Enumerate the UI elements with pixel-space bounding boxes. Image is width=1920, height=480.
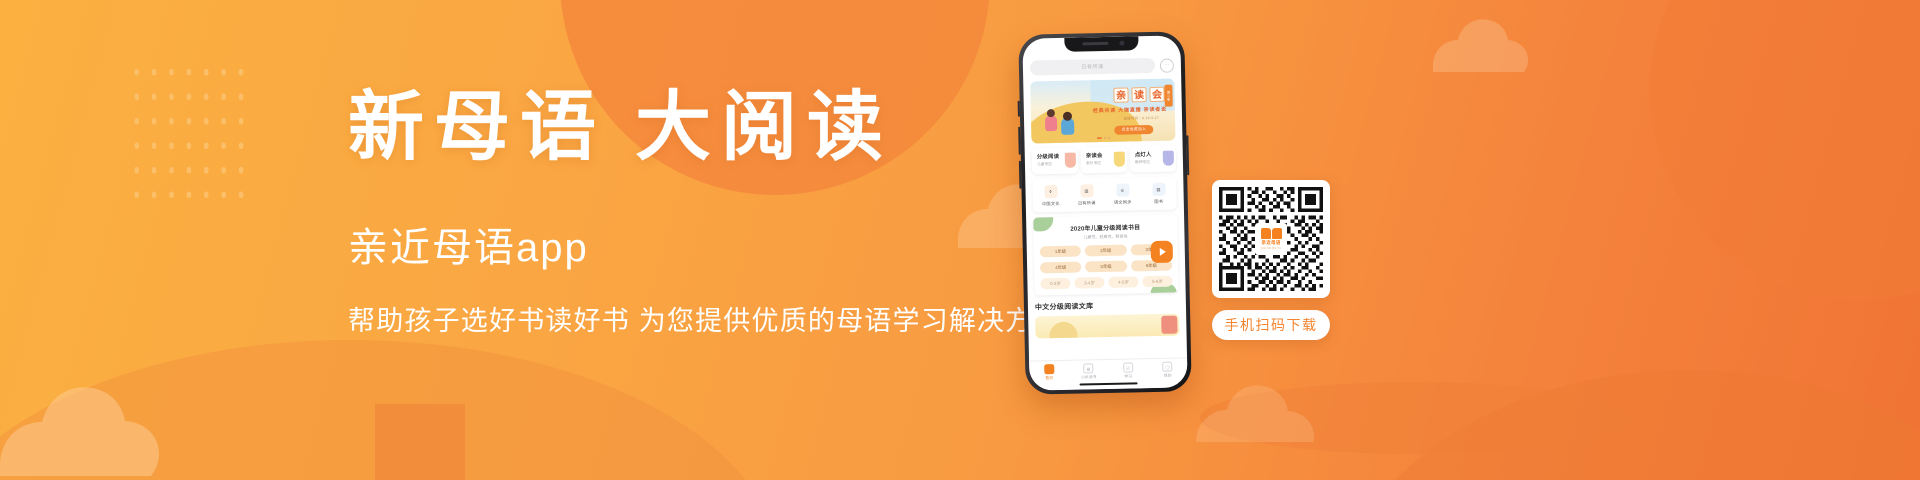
sync-lesson-icon: ◎ (1116, 183, 1129, 196)
cloud-icon (0, 376, 210, 480)
hero-child-illustration (1045, 115, 1057, 131)
cloud-icon (1190, 378, 1360, 458)
category-card-parent-club[interactable]: 亲读会 家长专区 (1081, 147, 1128, 174)
hero-subtitle: 经典共读 大咖直播 亲读者说 (1093, 106, 1167, 115)
app-screen: 日有所诵 ··· 亲 读 会 (1022, 35, 1187, 390)
age-chip[interactable]: 5-6岁 (1142, 276, 1172, 288)
grade-chip[interactable]: 4年级 (1040, 262, 1082, 274)
quick-icon-label: 语文同步 (1114, 199, 1132, 205)
books-icon: ▤ (1152, 183, 1165, 196)
cloud-icon (1428, 12, 1548, 82)
booklist-card: 2020年儿童分级阅读书目 儿童性、经典性、教育性 1年级 2年级 3年级 4年… (1033, 214, 1179, 295)
decorative-circle-right (1650, 0, 1920, 300)
qr-code[interactable]: 亲近母语 QIN JIN MU YU (1212, 180, 1330, 298)
decorative-block (375, 404, 465, 480)
search-placeholder: 日有所诵 (1081, 63, 1103, 70)
person-icon (1163, 151, 1174, 166)
checklist-icon: ☑ (1123, 362, 1133, 372)
bottom-tab-bar: ⌂ 首页 ▤ 小步读书 ☑ 学习 ◯ 我的 (1029, 357, 1188, 390)
bookmark-icon (1114, 152, 1125, 167)
phone-volume-down (1019, 161, 1022, 189)
phone-screen: 日有所诵 ··· 亲 读 会 (1022, 35, 1187, 390)
quick-icon-books[interactable]: ▤ 图书 (1140, 182, 1176, 205)
age-chip[interactable]: 3-4岁 (1074, 277, 1104, 289)
tab-label: 学习 (1124, 374, 1132, 379)
booklist-title: 2020年儿童分级阅读书目 (1039, 222, 1171, 234)
qr-center-logo: 亲近母语 QIN JIN MU YU (1255, 223, 1287, 255)
phone-volume-up (1018, 127, 1021, 155)
bookmark-icon (1065, 153, 1076, 168)
category-card-graded-reading[interactable]: 分级阅读 儿童专区 (1032, 148, 1079, 175)
category-card-teacher[interactable]: 点灯人 教师专区 (1130, 146, 1177, 173)
hero-child-illustration (1061, 118, 1074, 135)
quick-icon-sync-lesson[interactable]: ◎ 语文同步 (1104, 183, 1140, 206)
video-play-button[interactable] (1151, 241, 1173, 263)
tab-label: 首页 (1045, 376, 1053, 381)
age-chip[interactable]: 4-5岁 (1108, 276, 1138, 288)
decorative-dot-grid (128, 60, 250, 208)
booklist-subtitle: 儿童性、经典性、教育性 (1039, 233, 1171, 242)
phone-mockup: 日有所诵 ··· 亲 读 会 (1018, 31, 1192, 394)
hero-banner[interactable]: 亲 读 会 第二季 经典共读 大咖直播 亲读者说 直播时间：9.16-9.27 … (1030, 79, 1175, 144)
hero-title: 亲 读 会 (1113, 87, 1164, 103)
banner-copy: 新母语 大阅读 亲近母语app 帮助孩子选好书读好书 为您提供优质的母语学习解决… (348, 86, 1048, 338)
grade-chip[interactable]: 5年级 (1085, 261, 1127, 273)
quick-icon-chinese-culture[interactable]: ⚱ 中国文化 (1032, 185, 1068, 208)
chat-icon[interactable]: ··· (1160, 58, 1174, 72)
book-icon: ▤ (1083, 363, 1093, 373)
phone-power-button (1186, 135, 1189, 175)
hero-ribbon: 第二季 (1164, 85, 1172, 107)
logo-pinyin: QIN JIN MU YU (1261, 247, 1282, 250)
library-illustration (1049, 322, 1077, 339)
quick-icon-row: ⚱ 中国文化 ▥ 日有所诵 ◎ 语文同步 ▤ 图书 (1032, 176, 1177, 212)
tab-home[interactable]: ⌂ 首页 (1029, 364, 1069, 382)
tagline: 帮助孩子选好书读好书 为您提供优质的母语学习解决方案 (348, 299, 1048, 338)
daily-recite-icon: ▥ (1080, 184, 1093, 197)
quick-icon-label: 中国文化 (1042, 201, 1060, 207)
page-title: 新母语 大阅读 (348, 86, 1048, 171)
promo-banner: 新母语 大阅读 亲近母语app 帮助孩子选好书读好书 为您提供优质的母语学习解决… (0, 0, 1920, 480)
grade-chip[interactable]: 1年级 (1040, 246, 1082, 258)
grade-chip-row: 4年级 5年级 6年级 (1040, 260, 1172, 274)
category-card-row: 分级阅读 儿童专区 亲读会 家长专区 点灯人 教师专区 (1032, 146, 1177, 175)
quick-icon-label: 日有所诵 (1078, 200, 1096, 206)
tab-xiaobu-reading[interactable]: ▤ 小步读书 (1069, 363, 1109, 381)
tab-label: 小步读书 (1081, 375, 1096, 380)
quick-icon-label: 图书 (1154, 199, 1163, 205)
library-preview-card[interactable] (1035, 313, 1179, 338)
play-icon (1160, 248, 1166, 256)
section-title-library: 中文分级阅读文库 (1035, 299, 1179, 312)
download-button[interactable]: 手机扫码下载 (1212, 310, 1330, 340)
hero-join-button[interactable]: 点击免费加入 (1115, 125, 1154, 135)
carousel-dots[interactable] (1097, 137, 1110, 139)
grade-chip[interactable]: 2年级 (1085, 245, 1127, 257)
book-logo-icon (1261, 228, 1282, 239)
tab-profile[interactable]: ◯ 我的 (1148, 361, 1188, 379)
quick-icon-daily-recite[interactable]: ▥ 日有所诵 (1068, 184, 1104, 207)
search-row: 日有所诵 ··· (1030, 58, 1174, 76)
logo-name: 亲近母语 (1261, 240, 1280, 246)
search-input[interactable]: 日有所诵 (1030, 58, 1155, 76)
app-name: 亲近母语app (348, 215, 1048, 273)
tab-study[interactable]: ☑ 学习 (1108, 362, 1148, 380)
phone-mute-switch (1018, 101, 1020, 117)
hero-date: 直播时间：9.16-9.27 (1123, 115, 1159, 121)
user-icon: ◯ (1162, 362, 1172, 372)
tab-label: 我的 (1164, 374, 1172, 379)
library-illustration (1161, 316, 1177, 334)
phone-notch (1064, 36, 1138, 52)
age-chip[interactable]: 0-3岁 (1040, 278, 1070, 290)
home-icon: ⌂ (1044, 364, 1054, 374)
qr-block: 亲近母语 QIN JIN MU YU 手机扫码下载 (1212, 180, 1330, 340)
chinese-culture-icon: ⚱ (1044, 185, 1057, 198)
